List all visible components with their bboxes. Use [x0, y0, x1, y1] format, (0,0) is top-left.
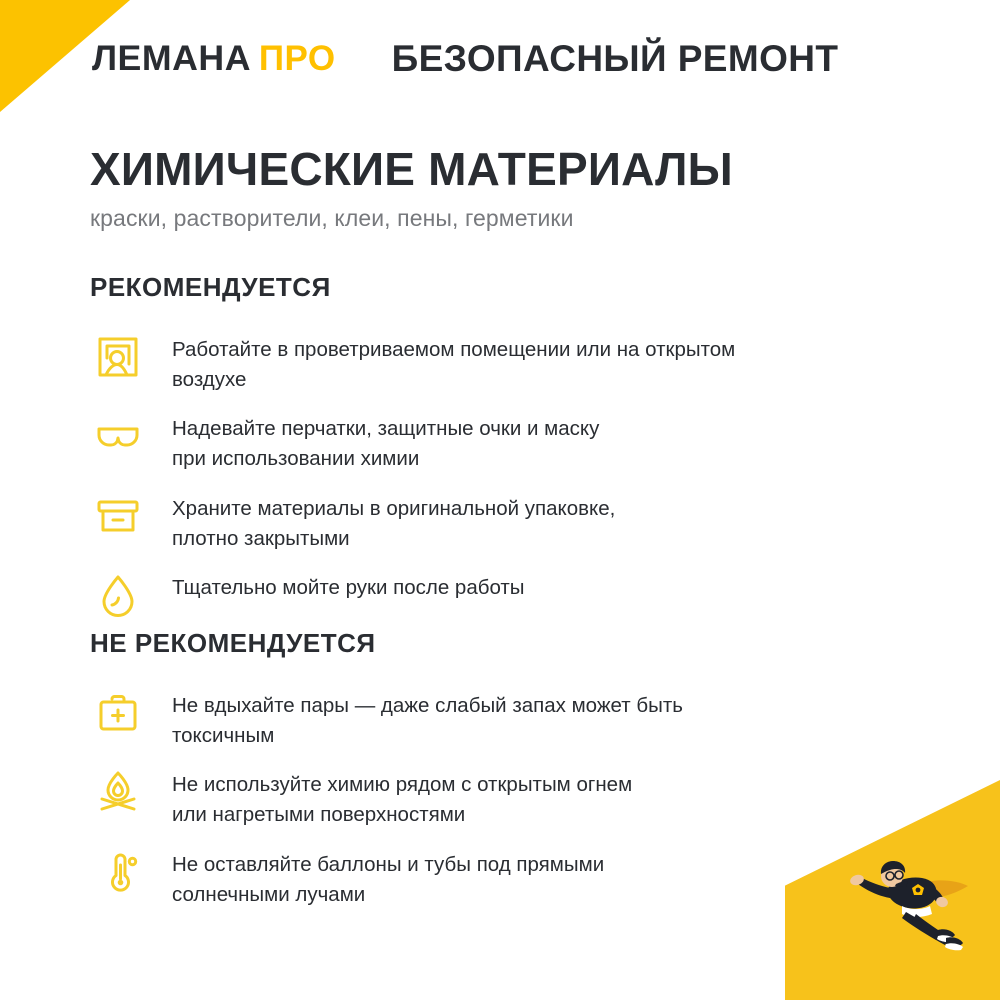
logo-text-lemana: ЛЕМАНА: [92, 39, 251, 79]
title-block: ХИМИЧЕСКИЕ МАТЕРИАЛЫ краски, растворител…: [90, 145, 733, 232]
section-heading-recommended: РЕКОМЕНДУЕТСЯ: [90, 272, 910, 303]
ventilated-room-icon: [90, 329, 146, 385]
list-item-text: Храните материалы в оригинальной упаковк…: [172, 488, 910, 553]
list-item: Не оставляйте баллоны и тубы под прямыми…: [90, 844, 910, 909]
safety-goggles-icon: [90, 408, 146, 464]
open-fire-icon: [90, 764, 146, 820]
section-heading-not-recommended: НЕ РЕКОМЕНДУЕТСЯ: [90, 628, 910, 659]
section-recommended: РЕКОМЕНДУЕТСЯ Работайте в проветриваемом…: [90, 272, 910, 639]
section-not-recommended: НЕ РЕКОМЕНДУЕТСЯ Не вдыхайте пары — даже…: [90, 628, 910, 923]
header: ЛЕМАНА ПРО БЕЗОПАСНЫЙ РЕМОНТ: [92, 38, 838, 80]
thermometer-sun-icon: [90, 844, 146, 900]
list-item-text: Не оставляйте баллоны и тубы под прямыми…: [172, 844, 910, 909]
list-item: Не вдыхайте пары — даже слабый запах мож…: [90, 685, 910, 750]
list-item-text: Не вдыхайте пары — даже слабый запах мож…: [172, 685, 910, 750]
poster-canvas: ЛЕМАНА ПРО БЕЗОПАСНЫЙ РЕМОНТ ХИМИЧЕСКИЕ …: [0, 0, 1000, 1000]
page-title: ХИМИЧЕСКИЕ МАТЕРИАЛЫ: [90, 145, 733, 193]
water-drop-icon: [90, 567, 146, 623]
list-item: Надевайте перчатки, защитные очки и маск…: [90, 408, 910, 473]
first-aid-kit-icon: [90, 685, 146, 741]
list-item: Тщательно мойте руки после работы: [90, 567, 910, 625]
flying-superhero-mascot: [832, 844, 992, 964]
list-item-text: Надевайте перчатки, защитные очки и маск…: [172, 408, 910, 473]
list-item-text: Тщательно мойте руки после работы: [172, 567, 910, 603]
list-item: Не используйте химию рядом с открытым ог…: [90, 764, 910, 829]
page-subtitle: краски, растворители, клеи, пены, гермет…: [90, 205, 733, 232]
list-item-text: Не используйте химию рядом с открытым ог…: [172, 764, 910, 829]
list-item-text: Работайте в проветриваемом помещении или…: [172, 329, 910, 394]
lemana-pro-logo: ЛЕМАНА ПРО: [92, 39, 336, 79]
storage-box-icon: [90, 488, 146, 544]
list-item: Работайте в проветриваемом помещении или…: [90, 329, 910, 394]
header-title: БЕЗОПАСНЫЙ РЕМОНТ: [392, 38, 839, 80]
list-item: Храните материалы в оригинальной упаковк…: [90, 488, 910, 553]
logo-text-pro: ПРО: [259, 39, 336, 79]
